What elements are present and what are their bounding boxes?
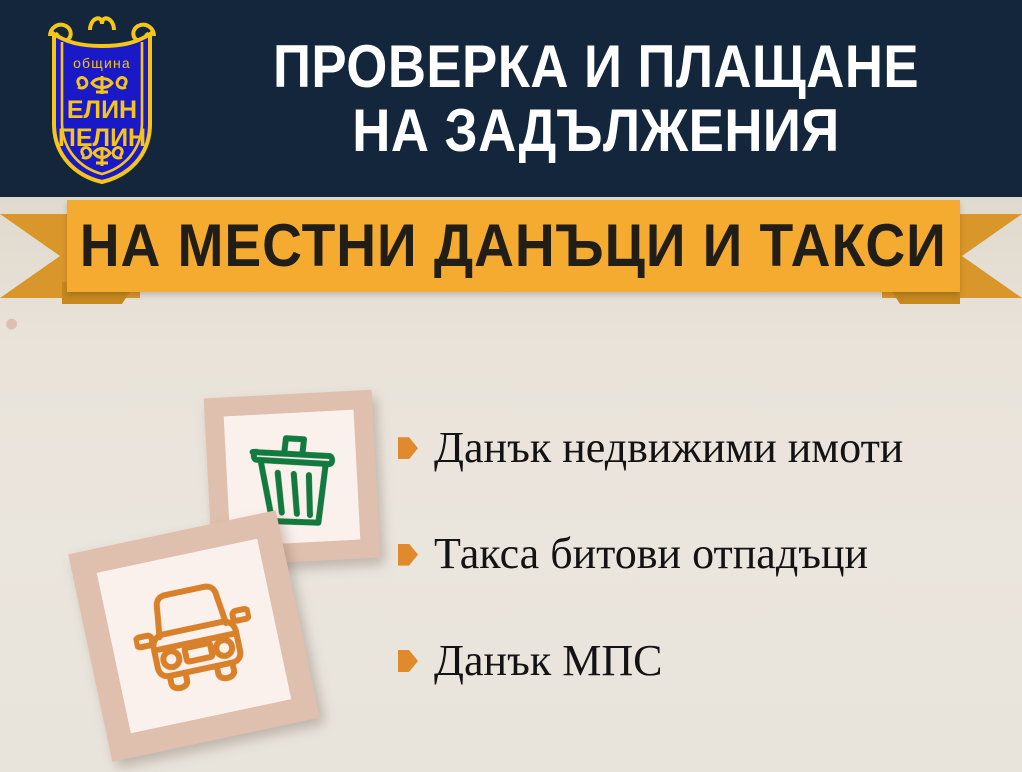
stamp-card-group (0, 296, 420, 772)
tax-types-list: Данък недвижими имоти Такса битови отпад… (398, 424, 1008, 743)
list-item[interactable]: Такса битови отпадъци (398, 530, 1008, 578)
list-item-label: Данък МПС (434, 637, 662, 685)
stamp-card-property (6, 302, 223, 519)
subtitle-ribbon: НА МЕСТНИ ДАНЪЦИ И ТАКСИ (0, 196, 1022, 316)
stamp-card-vehicle (68, 510, 319, 761)
list-item-label: Данък недвижими имоти (434, 424, 903, 472)
list-item-label: Такса битови отпадъци (434, 530, 868, 578)
logo-text-elin: ЕЛИН (67, 96, 137, 124)
header-bar: община ЕЛИН ПЕЛИН (0, 0, 1022, 197)
house-icon (54, 355, 174, 464)
ribbon-banner: НА МЕСТНИ ДАНЪЦИ И ТАКСИ (67, 200, 960, 292)
logo-text-obshtina: община (73, 55, 131, 71)
page-title-line2: НА ЗАДЪЛЖЕНИЯ (352, 99, 839, 163)
municipality-logo: община ЕЛИН ПЕЛИН (28, 6, 176, 188)
list-item[interactable]: Данък МПС (398, 637, 1008, 685)
arrow-bullet-icon (398, 650, 418, 672)
car-front-icon (124, 573, 263, 700)
page-title: ПРОВЕРКА И ПЛАЩАНЕ НА ЗАДЪЛЖЕНИЯ (235, 16, 957, 181)
list-item[interactable]: Данък недвижими имоти (398, 424, 1008, 472)
arrow-bullet-icon (398, 437, 418, 459)
arrow-bullet-icon (398, 544, 418, 566)
page-title-line1: ПРОВЕРКА И ПЛАЩАНЕ (273, 35, 919, 99)
poster-canvas: община ЕЛИН ПЕЛИН (0, 0, 1022, 772)
stamp-paper-property (29, 325, 198, 494)
ribbon-label: НА МЕСТНИ ДАНЪЦИ И ТАКСИ (80, 216, 947, 276)
stamp-paper-vehicle (97, 539, 292, 734)
